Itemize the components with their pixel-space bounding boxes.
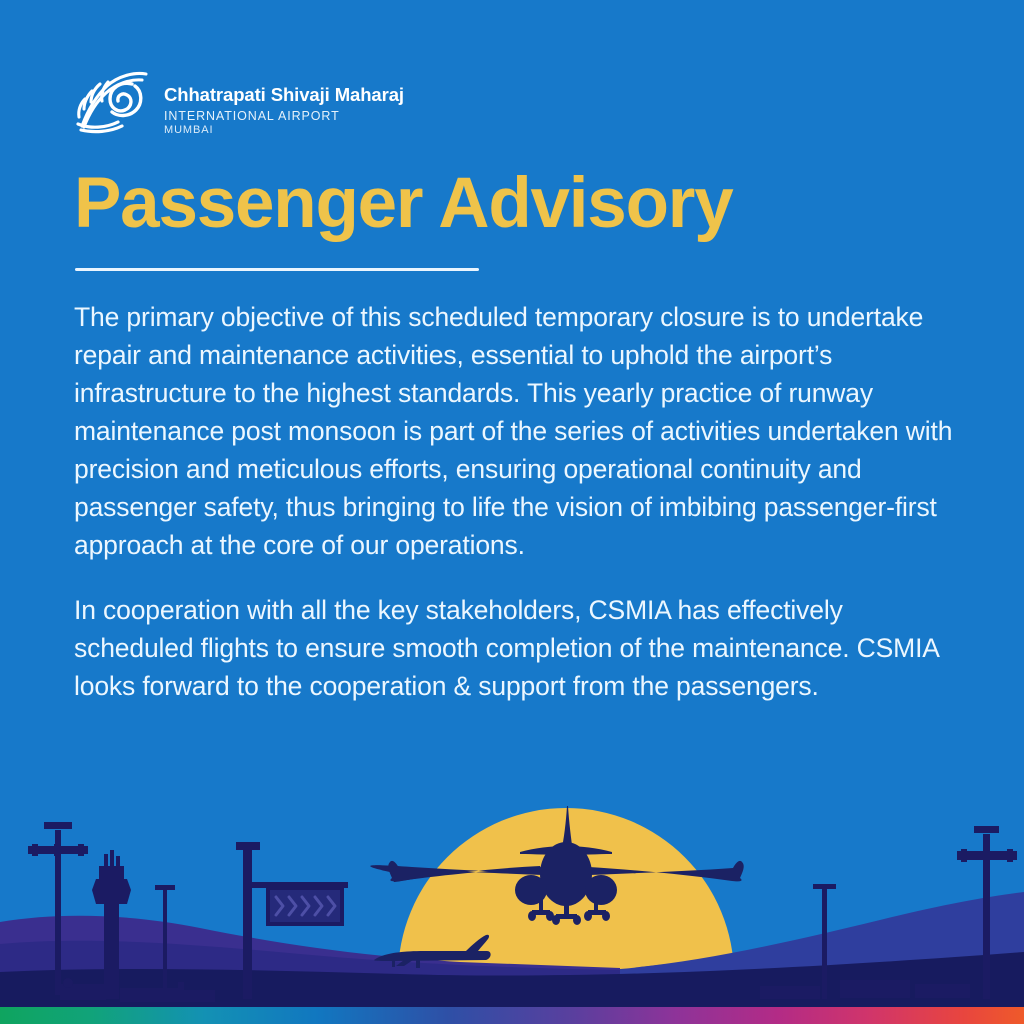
brand-gradient-footer-bar xyxy=(0,1007,1024,1024)
peacock-feather-swirl-logo-icon xyxy=(72,70,154,134)
airport-sunset-illustration xyxy=(0,794,1024,1024)
advisory-paragraph-2: In cooperation with all the key stakehol… xyxy=(74,591,969,705)
page-title: Passenger Advisory xyxy=(74,168,732,239)
airport-brand-lockup: Chhatrapati Shivaji Maharaj INTERNATIONA… xyxy=(72,70,404,136)
passenger-advisory-poster: Chhatrapati Shivaji Maharaj INTERNATIONA… xyxy=(0,0,1024,1024)
title-divider xyxy=(75,268,479,271)
brand-subtitle: INTERNATIONAL AIRPORT xyxy=(164,110,404,123)
advisory-body: The primary objective of this scheduled … xyxy=(74,298,969,705)
brand-name: Chhatrapati Shivaji Maharaj xyxy=(164,86,404,105)
brand-city: MUMBAI xyxy=(164,125,404,136)
brand-text-block: Chhatrapati Shivaji Maharaj INTERNATIONA… xyxy=(164,70,404,136)
advisory-paragraph-1: The primary objective of this scheduled … xyxy=(74,298,969,564)
